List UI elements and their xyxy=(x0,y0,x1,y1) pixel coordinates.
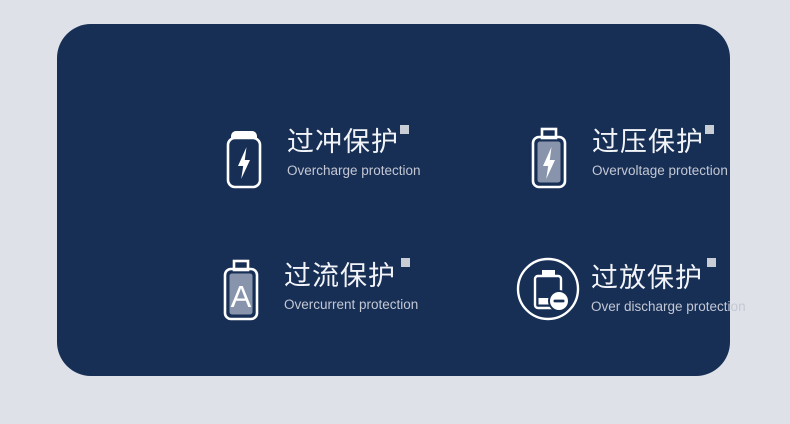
svg-text:A: A xyxy=(231,279,252,314)
battery-minus-circle-icon xyxy=(515,253,581,325)
feature-title-cn: 过放保护 xyxy=(591,261,746,295)
battery-ampere-filled-icon: A xyxy=(212,253,270,325)
decoration-square xyxy=(400,125,409,134)
feature-overcurrent-text: 过流保护 Overcurrent protection xyxy=(284,253,418,313)
battery-bolt-filled-icon xyxy=(520,121,578,193)
decoration-square xyxy=(705,125,714,134)
feature-title-en: Over discharge protection xyxy=(591,298,746,315)
feature-overcurrent: A 过流保护 Overcurrent protection xyxy=(212,253,418,325)
feature-overcharge: 过冲保护 Overcharge protection xyxy=(215,121,421,193)
features-panel: 过冲保护 Overcharge protection 过压保护 xyxy=(57,24,730,376)
feature-overdischarge-text: 过放保护 Over discharge protection xyxy=(591,253,746,315)
feature-title-cn: 过流保护 xyxy=(284,259,418,293)
decoration-square xyxy=(707,258,716,267)
feature-title-en: Overcharge protection xyxy=(287,162,421,179)
feature-title-en: Overvoltage protection xyxy=(592,162,728,179)
battery-bolt-outline-icon xyxy=(215,121,273,193)
feature-title-en: Overcurrent protection xyxy=(284,296,418,313)
screenshot-stage: 过冲保护 Overcharge protection 过压保护 xyxy=(0,0,790,424)
feature-overvoltage: 过压保护 Overvoltage protection xyxy=(520,121,728,193)
decoration-square xyxy=(401,258,410,267)
